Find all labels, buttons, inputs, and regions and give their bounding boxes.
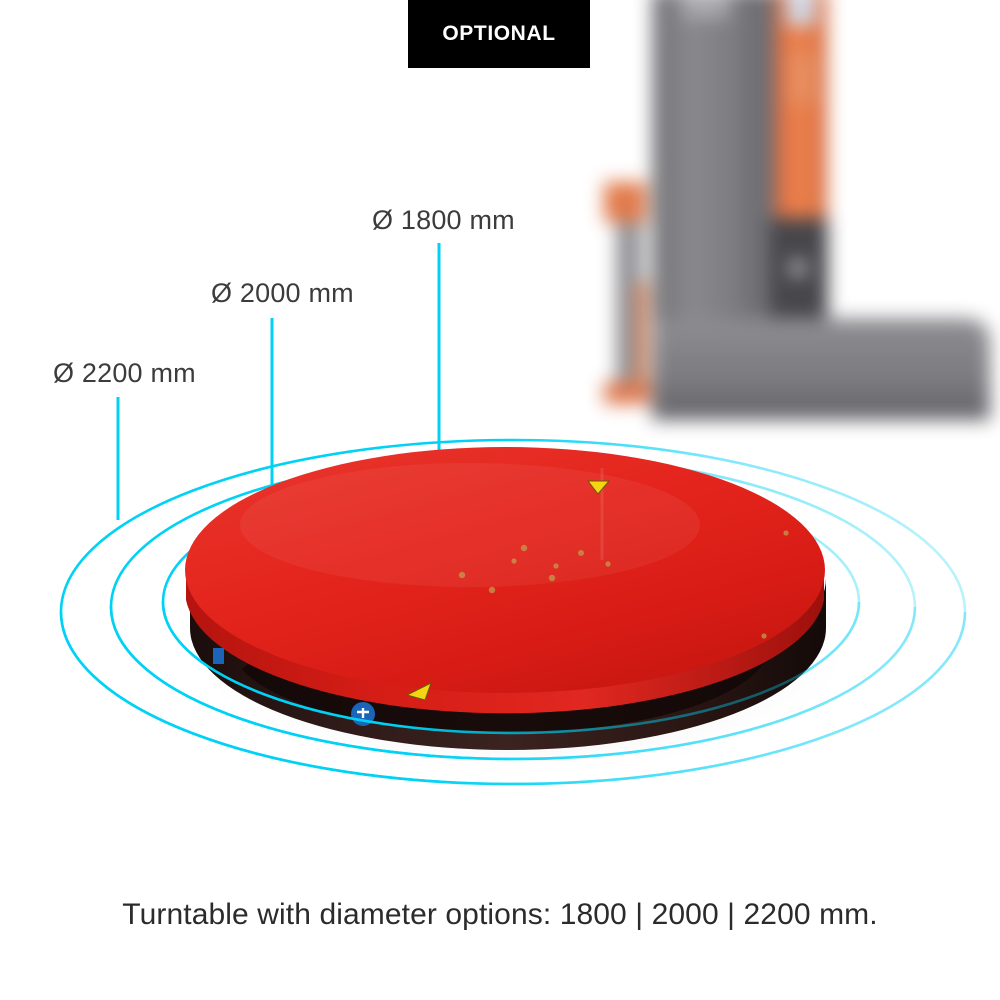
turntable-disc-highlight bbox=[240, 463, 700, 587]
dimension-label-2000: Ø 2000 mm bbox=[211, 278, 354, 309]
info-badge-left-icon bbox=[213, 648, 224, 664]
optional-badge: OPTIONAL bbox=[408, 0, 590, 68]
diagram-caption: Turntable with diameter options: 1800 | … bbox=[0, 898, 1000, 932]
optional-badge-label: OPTIONAL bbox=[442, 22, 555, 46]
dimension-label-1800: Ø 1800 mm bbox=[372, 205, 515, 236]
dimension-label-2200: Ø 2200 mm bbox=[53, 358, 196, 389]
turntable-diagram bbox=[0, 0, 1000, 1000]
product-diagram-stage: OPTIONAL Ø 1800 mm Ø 2000 mm Ø 2200 mm T… bbox=[0, 0, 1000, 1000]
